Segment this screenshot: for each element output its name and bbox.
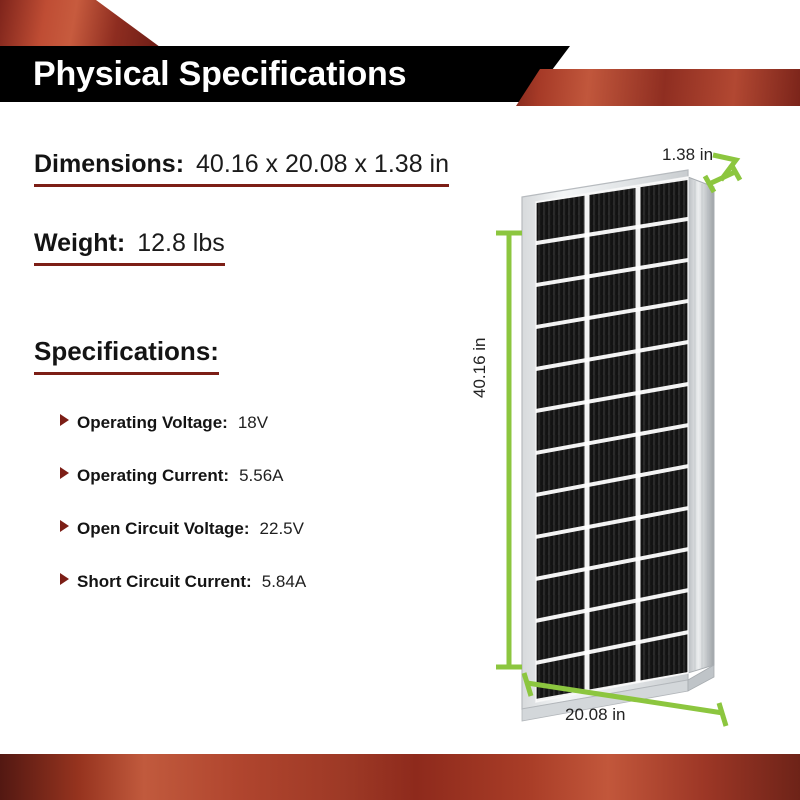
panel-side-edge (688, 177, 714, 673)
spec-value: 18V (238, 413, 268, 433)
list-item: Short Circuit Current: 5.84A (60, 572, 504, 592)
height-dimension-label: 40.16 in (470, 338, 490, 399)
triangle-bullet-icon (60, 467, 69, 479)
dimensions-label: Dimensions: (34, 150, 184, 178)
solar-panel-image (470, 125, 800, 745)
specifications-heading: Specifications: (34, 336, 219, 375)
spec-value: 5.56A (239, 466, 283, 486)
thickness-dimension-label: 1.38 in (662, 145, 713, 165)
list-item: Operating Current: 5.56A (60, 466, 504, 486)
spec-name: Operating Voltage: (77, 413, 228, 433)
weight-row: Weight:12.8 lbs (34, 229, 225, 266)
weight-label: Weight: (34, 229, 125, 257)
weight-value: 12.8 lbs (137, 229, 225, 257)
top-left-red-wedge (0, 0, 160, 47)
spec-name: Operating Current: (77, 466, 229, 486)
triangle-bullet-icon (60, 573, 69, 585)
list-item: Operating Voltage: 18V (60, 413, 504, 433)
triangle-bullet-icon (60, 520, 69, 532)
spec-name: Open Circuit Voltage: (77, 519, 250, 539)
dimensions-value: 40.16 x 20.08 x 1.38 in (196, 150, 449, 178)
spec-value: 22.5V (260, 519, 304, 539)
width-dimension-label: 20.08 in (565, 705, 626, 725)
solar-panel-graphic (470, 125, 800, 745)
dimensions-row: Dimensions:40.16 x 20.08 x 1.38 in (34, 150, 449, 187)
spec-name: Short Circuit Current: (77, 572, 252, 592)
info-column: Dimensions:40.16 x 20.08 x 1.38 in Weigh… (34, 150, 504, 625)
bottom-red-bar (0, 754, 800, 800)
infographic-page: Physical Specifications Dimensions:40.16… (0, 0, 800, 800)
header-red-tail (498, 69, 800, 106)
header-banner: Physical Specifications (0, 46, 570, 102)
page-title: Physical Specifications (33, 57, 406, 91)
specifications-heading-wrap: Specifications: (34, 336, 504, 375)
dimensions-row-wrap: Dimensions:40.16 x 20.08 x 1.38 in (34, 150, 504, 187)
weight-row-wrap: Weight:12.8 lbs (34, 229, 504, 266)
spec-value: 5.84A (262, 572, 306, 592)
triangle-bullet-icon (60, 414, 69, 426)
list-item: Open Circuit Voltage: 22.5V (60, 519, 504, 539)
panel-cell-grid (530, 177, 694, 707)
specifications-list: Operating Voltage: 18V Operating Current… (34, 413, 504, 592)
